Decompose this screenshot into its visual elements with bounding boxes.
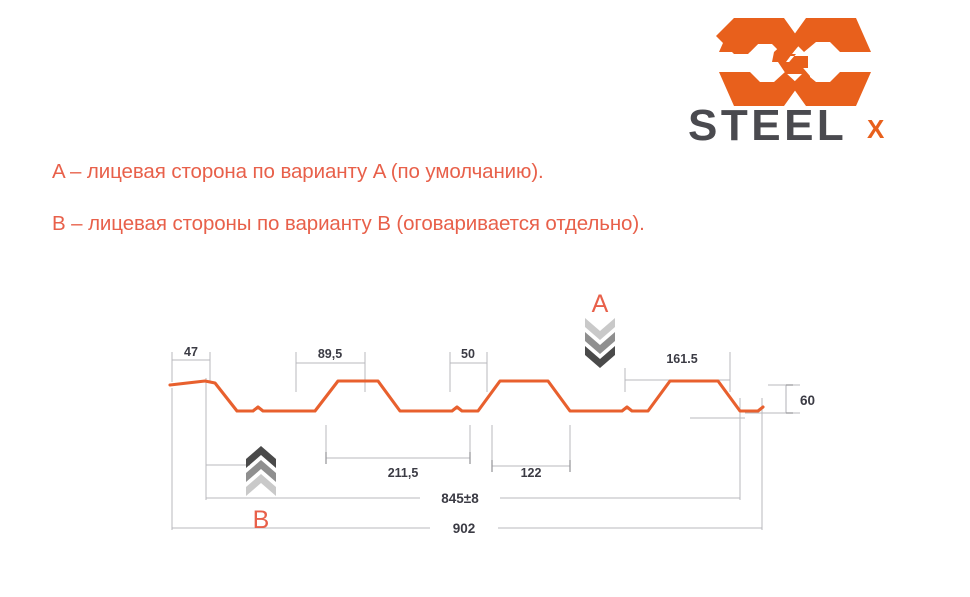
dimension-label-845: 845±8 [441,491,479,506]
dimension-label-122: 122 [521,466,542,480]
marker-b: B [246,446,276,534]
dimension-label-47: 47 [184,345,198,359]
chevron-down-triple-icon [585,318,615,368]
chevron-up-triple-icon [246,446,276,496]
dimension-label-161-5: 161.5 [666,352,697,366]
profile-technical-drawing: A B 47 89,5 50 161.5 211,5 122 845±8 902… [0,0,970,597]
marker-a-label: A [592,290,609,318]
dimension-label-89-5: 89,5 [318,347,342,361]
dimension-label-60: 60 [800,393,815,408]
dimension-label-211-5: 211,5 [388,466,419,480]
dimension-label-902: 902 [453,521,476,536]
dimension-lines [172,360,786,528]
extension-lines [172,352,800,530]
dimension-label-50: 50 [461,347,475,361]
marker-b-label: B [253,506,270,534]
trapezoidal-sheet-profile [170,381,763,411]
marker-a: A [585,290,615,368]
